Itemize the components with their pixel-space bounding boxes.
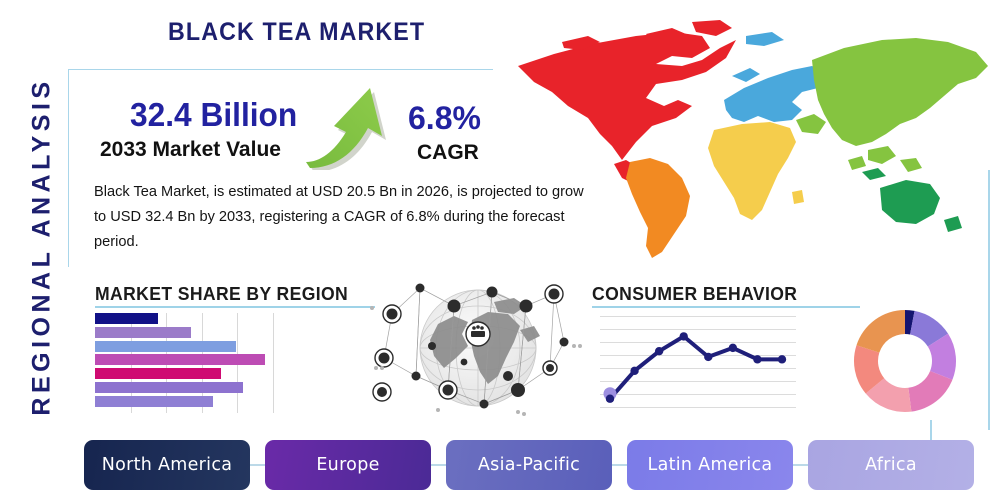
- chip-connector: [612, 464, 627, 466]
- segment-donut-chart: [852, 308, 958, 414]
- donut-segment: [856, 310, 905, 353]
- world-map: [496, 14, 996, 264]
- region-chip-latin-america[interactable]: Latin America: [627, 440, 793, 490]
- chip-connector: [250, 464, 265, 466]
- region-chip-label: Africa: [865, 455, 917, 475]
- bar-chart-bar: [95, 327, 191, 338]
- region-chip-europe[interactable]: Europe: [265, 440, 431, 490]
- infographic-canvas: REGIONAL ANALYSIS BLACK TEA MARKET 32.4 …: [0, 0, 1000, 500]
- market-share-heading: MARKET SHARE BY REGION: [95, 283, 348, 305]
- bar-chart-bar: [95, 313, 158, 324]
- cagr-figure: 6.8%: [408, 100, 481, 137]
- side-title: REGIONAL ANALYSIS: [28, 37, 57, 457]
- region-chip-label: Asia-Pacific: [478, 455, 580, 475]
- cagr-label: CAGR: [417, 141, 479, 165]
- map-region-south-america: [626, 158, 690, 258]
- bar-chart-bar: [95, 396, 213, 407]
- line-chart-series: [600, 312, 796, 414]
- growth-arrow-icon: [300, 82, 410, 170]
- chip-connector: [793, 464, 808, 466]
- consumer-behavior-rule: [592, 306, 860, 308]
- region-chip-label: North America: [102, 455, 233, 475]
- bar-chart-bar: [95, 354, 265, 365]
- bar-chart-bar: [95, 368, 221, 379]
- region-chip-row: North AmericaEuropeAsia-PacificLatin Ame…: [84, 440, 964, 490]
- chip-connector: [431, 464, 446, 466]
- map-region-asia: [796, 38, 988, 172]
- market-share-rule: [95, 306, 375, 308]
- region-chip-africa[interactable]: Africa: [808, 440, 974, 490]
- bar-chart-bar: [95, 382, 243, 393]
- page-title: BLACK TEA MARKET: [168, 18, 425, 47]
- global-network-illustration: [368, 272, 588, 424]
- region-chip-label: Latin America: [648, 455, 773, 475]
- region-chip-label: Europe: [316, 455, 379, 475]
- market-value-label: 2033 Market Value: [100, 138, 281, 162]
- consumer-behavior-heading: CONSUMER BEHAVIOR: [592, 283, 797, 305]
- map-region-north-america: [518, 20, 736, 184]
- market-share-bar-chart: [95, 313, 280, 413]
- region-chip-asia-pacific[interactable]: Asia-Pacific: [446, 440, 612, 490]
- bar-chart-bar: [95, 341, 236, 352]
- market-value-figure: 32.4 Billion: [130, 96, 297, 134]
- map-region-europe: [724, 32, 826, 122]
- consumer-behavior-line-chart: [600, 312, 796, 414]
- map-region-africa: [708, 122, 804, 220]
- map-region-oceania: [862, 168, 962, 232]
- region-chip-north-america[interactable]: North America: [84, 440, 250, 490]
